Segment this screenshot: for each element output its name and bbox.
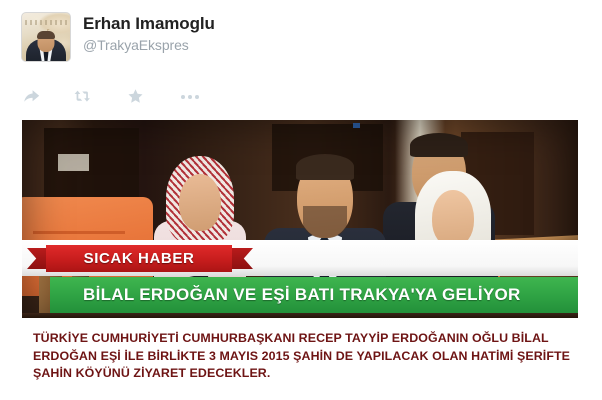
article-body-line-3: ŞAHİN KÖYÜNÜ ZİYARET EDECEKLER. <box>33 365 581 383</box>
tweet-card: Erhan Imamoglu @TrakyaEkspres <box>0 0 602 400</box>
favorite-button[interactable] <box>126 87 148 107</box>
headline-bar: BİLAL ERDOĞAN VE EŞİ BATI TRAKYA'YA GELİ… <box>50 277 578 313</box>
headline-text: BİLAL ERDOĞAN VE EŞİ BATI TRAKYA'YA GELİ… <box>50 285 521 305</box>
more-dot-3 <box>195 95 199 99</box>
more-dot-1 <box>181 95 185 99</box>
author-handle[interactable]: @TrakyaEkspres <box>83 36 215 54</box>
breaking-news-label: SICAK HABER <box>84 250 195 267</box>
avatar[interactable] <box>22 13 70 61</box>
breaking-news-badge: SICAK HABER <box>46 245 232 272</box>
more-options-button[interactable] <box>181 87 203 107</box>
tweet-actions <box>21 87 241 109</box>
author-names: Erhan Imamoglu @TrakyaEkspres <box>83 13 215 54</box>
article-body-line-2: ERDOĞAN EŞİ İLE BİRLİKTE 3 MAYIS 2015 ŞA… <box>33 348 581 366</box>
image-bottom-edge <box>22 313 578 318</box>
author-name[interactable]: Erhan Imamoglu <box>83 14 215 34</box>
article-body: TÜRKİYE CUMHURİYETİ CUMHURBAŞKANI RECEP … <box>33 330 581 383</box>
avatar-hair <box>37 31 55 39</box>
article-body-line-1: TÜRKİYE CUMHURİYETİ CUMHURBAŞKANI RECEP … <box>33 330 581 348</box>
reply-button[interactable] <box>23 87 45 107</box>
tweet-header: Erhan Imamoglu @TrakyaEkspres <box>22 13 215 61</box>
retweet-button[interactable] <box>73 87 95 107</box>
more-dot-2 <box>188 95 192 99</box>
